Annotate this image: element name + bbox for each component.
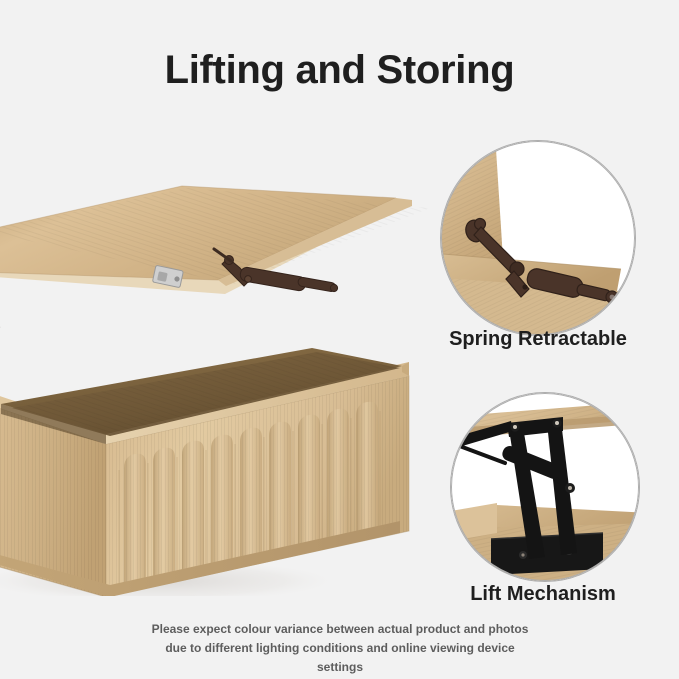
product-feature-image: Lifting and Storing [0,0,679,679]
page-title: Lifting and Storing [0,46,679,94]
lift-mechanism-caption: Lift Mechanism [433,583,653,606]
spring-retractable-closeup [440,140,636,336]
hero-product-image [0,176,430,596]
spring-retractable-caption: Spring Retractable [428,328,648,351]
lift-mechanism-closeup [450,392,640,582]
disclaimer-text: Please expect colour variance between ac… [150,620,530,677]
disclaimer-line-2: to different lighting conditions and onl… [190,641,515,674]
